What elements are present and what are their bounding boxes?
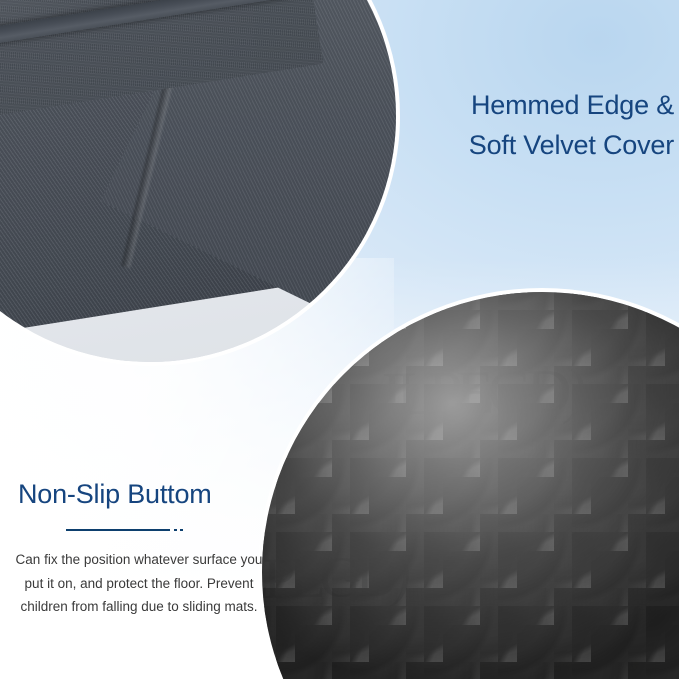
bottom-feature-description: Can fix the position whatever surface yo… xyxy=(8,548,270,618)
product-feature-panel: ILPEGD) ILPEGD) ILPEGD) Hemmed Edge & So… xyxy=(0,0,679,679)
top-feature-heading: Hemmed Edge & Soft Velvet Cover xyxy=(408,86,674,166)
non-slip-backing-photo: ILPEGD) ILPEGD) ILPEGD) xyxy=(262,292,679,679)
divider-dash xyxy=(180,529,183,531)
divider-dash xyxy=(174,529,177,531)
top-feature-heading-line-2: Soft Velvet Cover xyxy=(408,126,674,166)
bottom-feature-block: Non-Slip Buttom Can fix the position wha… xyxy=(8,478,270,618)
anti-slip-dots-secondary xyxy=(262,292,679,679)
bottom-feature-heading: Non-Slip Buttom xyxy=(8,478,270,510)
nonslip-photo-scene: ILPEGD) ILPEGD) ILPEGD) xyxy=(262,292,679,679)
top-feature-heading-line-1: Hemmed Edge & xyxy=(408,86,674,126)
heading-divider xyxy=(66,524,192,536)
divider-line xyxy=(66,529,170,531)
